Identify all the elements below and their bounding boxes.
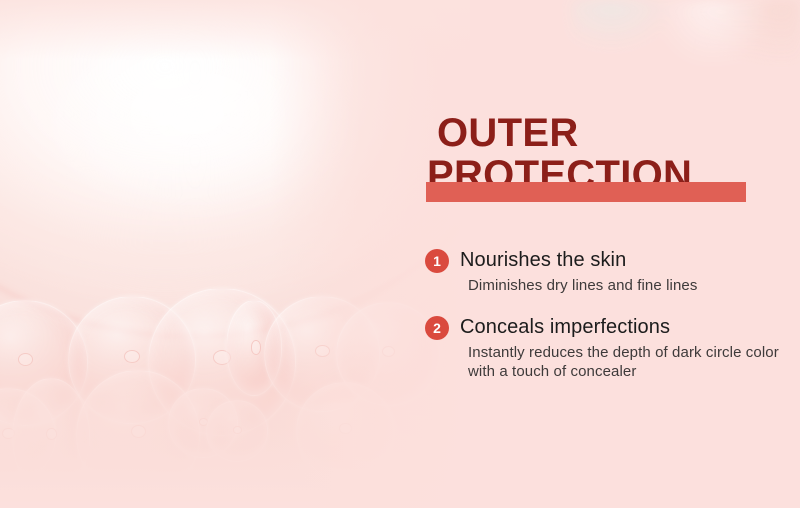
text-panel: OUTER PROTECTION 1 Nourishes the skin Di… bbox=[420, 0, 800, 508]
product-macro-photo bbox=[0, 0, 470, 508]
list-item: 2 Conceals imperfections Instantly reduc… bbox=[420, 315, 800, 381]
feature-title: Conceals imperfections bbox=[460, 315, 800, 339]
feature-number-badge: 2 bbox=[425, 316, 449, 340]
feature-number-badge: 1 bbox=[425, 249, 449, 273]
title-line-1: OUTER bbox=[437, 112, 767, 154]
feature-description: Instantly reduces the depth of dark circ… bbox=[468, 343, 800, 381]
feature-description: Diminishes dry lines and fine lines bbox=[468, 276, 800, 295]
feature-list: 1 Nourishes the skin Diminishes dry line… bbox=[420, 248, 800, 401]
title-underline-bar bbox=[426, 182, 746, 202]
photo-top-fade bbox=[0, 0, 470, 60]
feature-title: Nourishes the skin bbox=[460, 248, 800, 272]
product-feature-banner: OUTER PROTECTION 1 Nourishes the skin Di… bbox=[0, 0, 800, 508]
list-item: 1 Nourishes the skin Diminishes dry line… bbox=[420, 248, 800, 295]
